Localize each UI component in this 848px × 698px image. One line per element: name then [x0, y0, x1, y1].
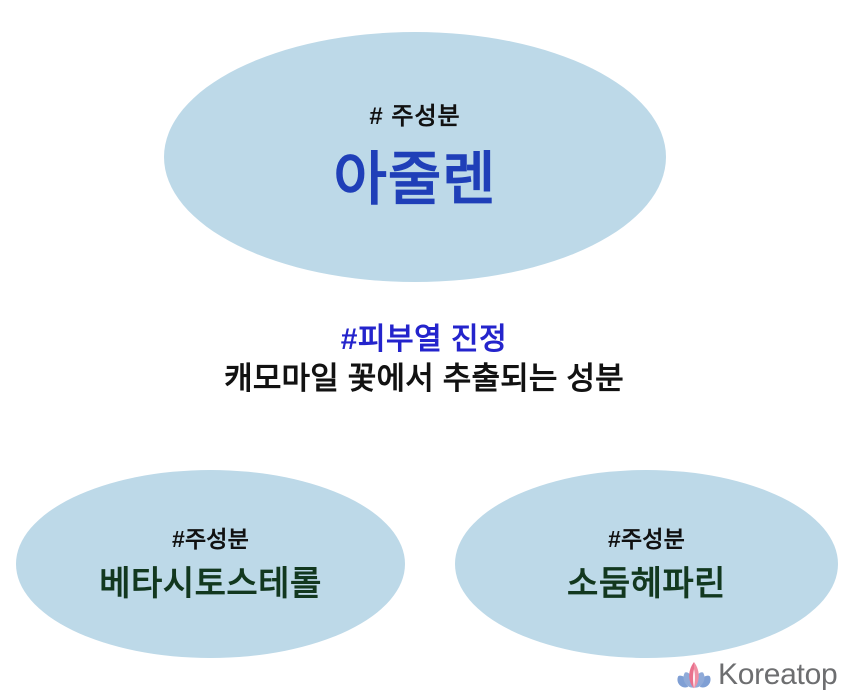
ingredient-bubble-left: #주성분 베타시토스테롤: [16, 470, 405, 658]
ingredient-name-right: 소둠헤파린: [567, 567, 726, 601]
brand-name-text: Koreatop: [718, 660, 837, 690]
ingredient-name-main: 아줄렌: [333, 151, 496, 209]
brand-watermark: Koreatop: [676, 660, 837, 690]
infographic-canvas: # 주성분 아줄렌 #피부열 진정 캐모마일 꽃에서 추출되는 성분 #주성분 …: [0, 0, 848, 698]
ingredient-bubble-main: # 주성분 아줄렌: [164, 32, 666, 282]
ingredient-name-left: 베타시토스테롤: [99, 567, 321, 601]
ingredient-tag-main: # 주성분: [369, 105, 460, 129]
caption-block: #피부열 진정 캐모마일 꽃에서 추출되는 성분: [0, 322, 848, 399]
ingredient-bubble-right: #주성분 소둠헤파린: [455, 470, 838, 658]
ingredient-tag-left: #주성분: [172, 528, 249, 551]
lotus-icon: [676, 660, 712, 690]
ingredient-tag-right: #주성분: [608, 528, 685, 551]
caption-body-text: 캐모마일 꽃에서 추출되는 성분: [0, 359, 848, 399]
caption-accent-text: #피부열 진정: [0, 322, 848, 359]
